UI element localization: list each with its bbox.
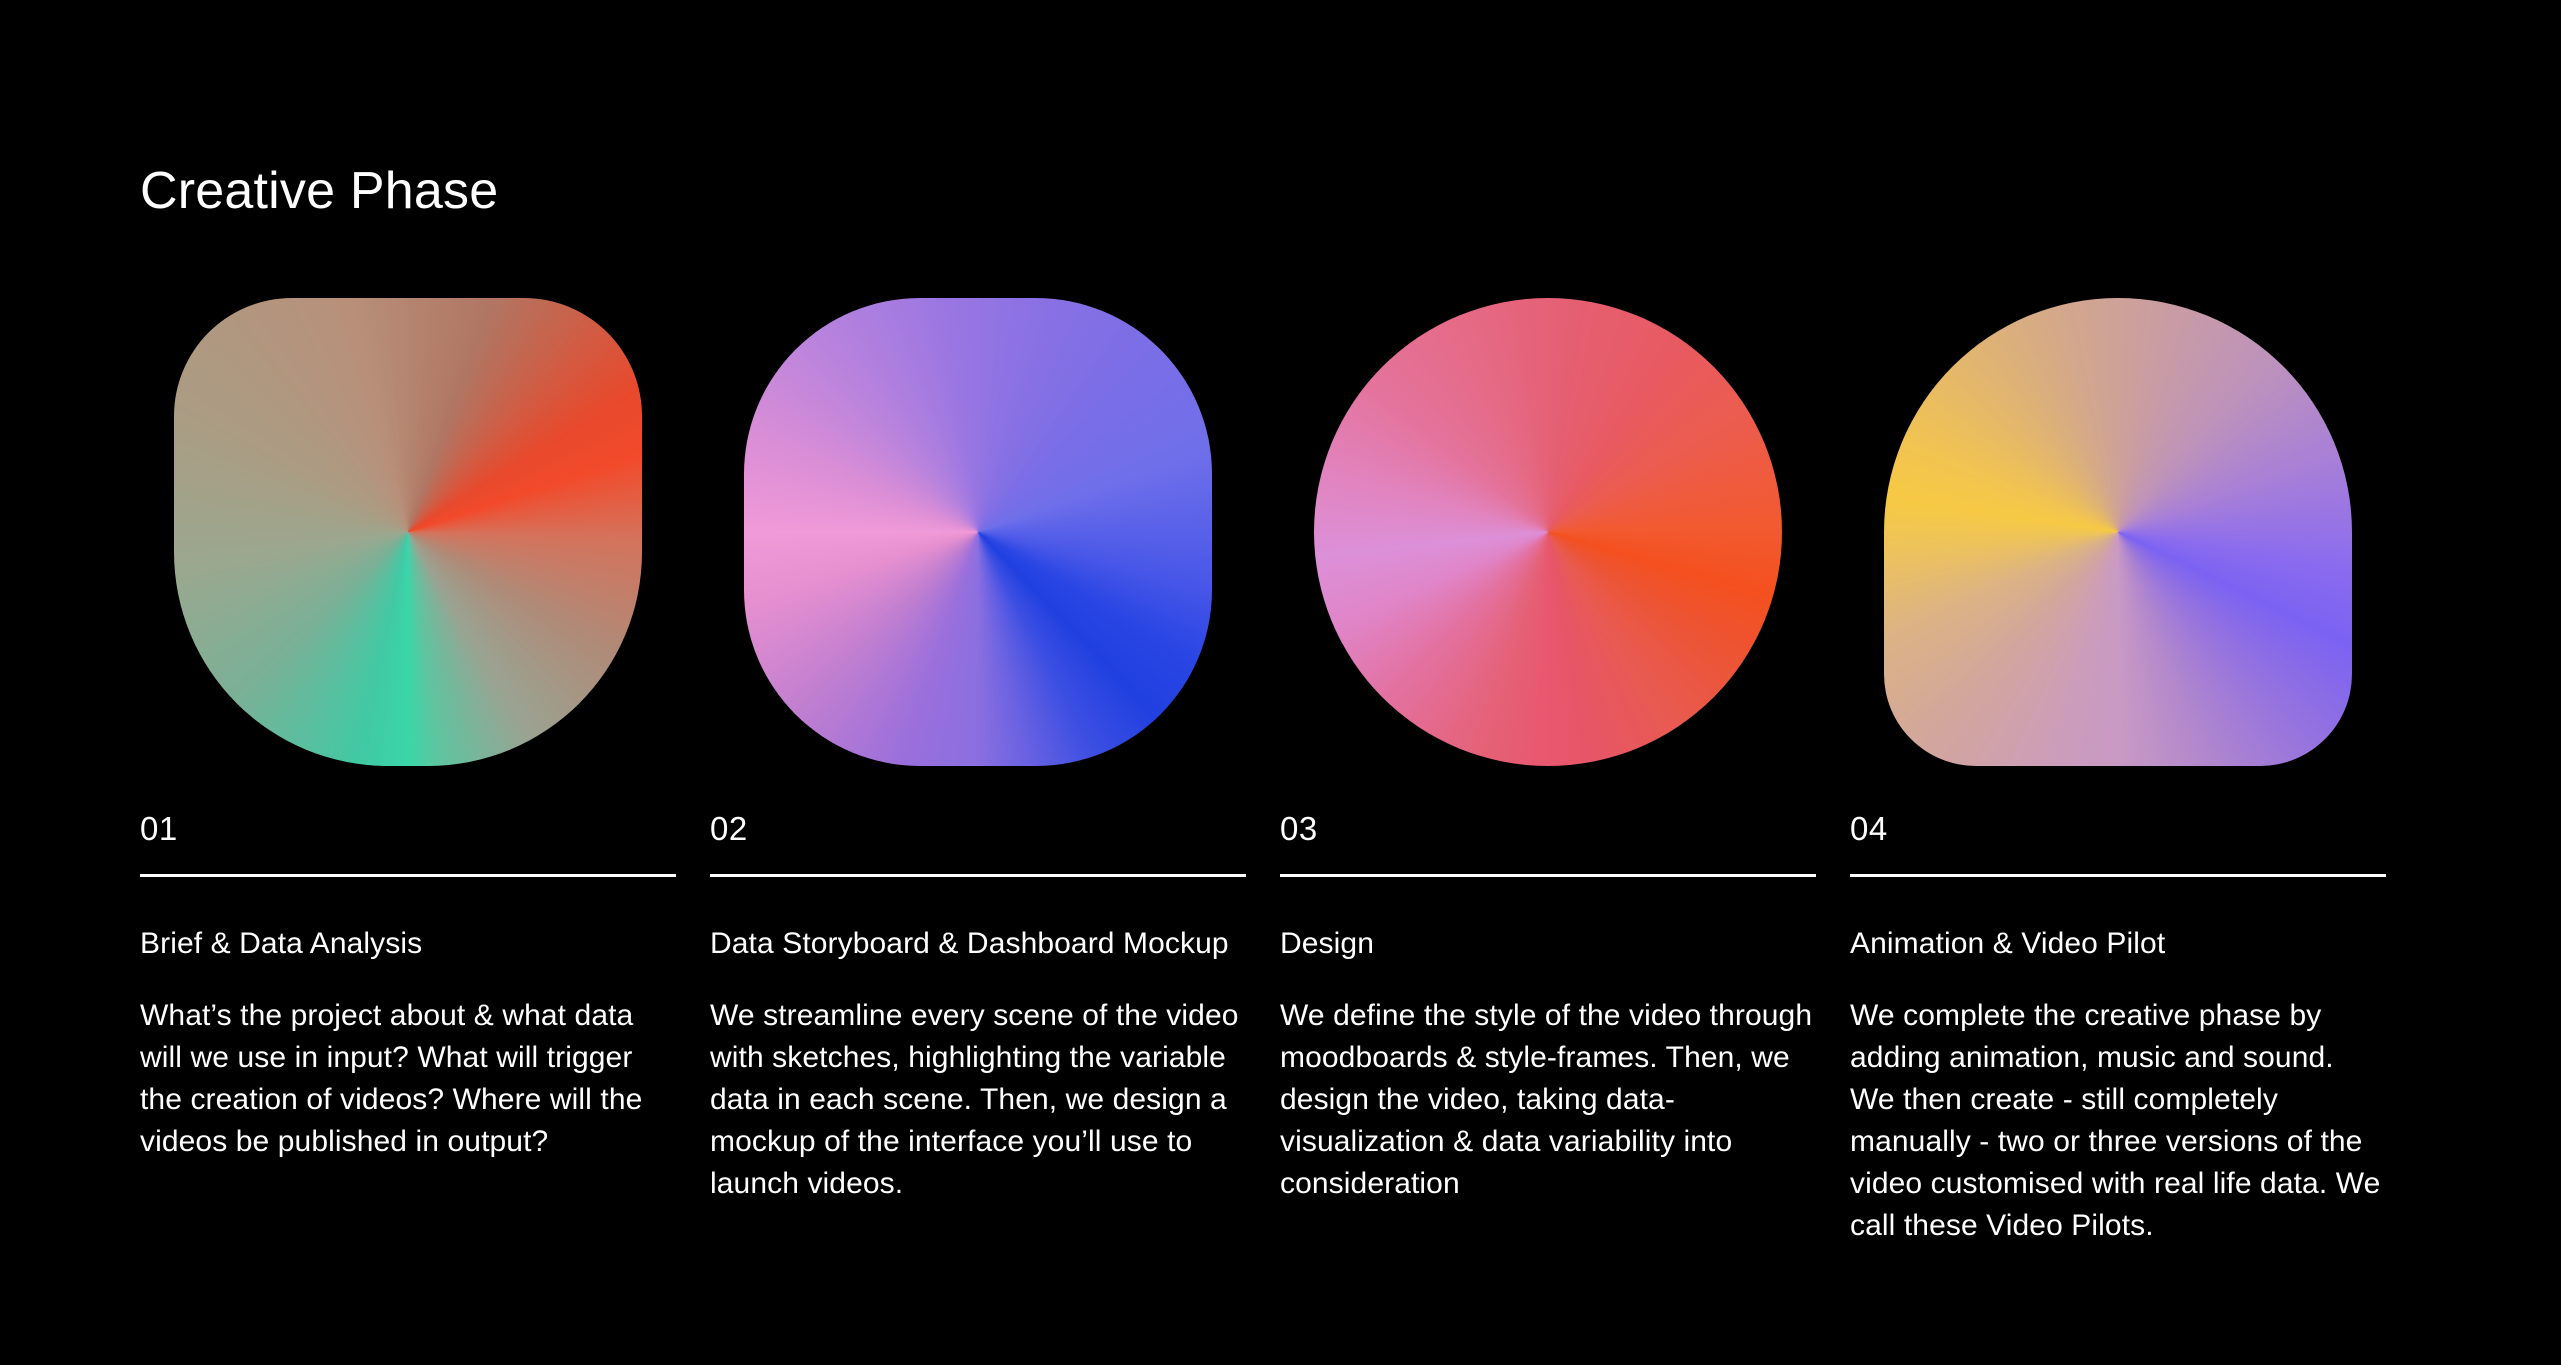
step-card-03: 03 Design We define the style of the vid…: [1280, 298, 1816, 1247]
step-divider-02: [710, 874, 1246, 877]
step-card-01: 01 Brief & Data Analysis What’s the proj…: [140, 298, 676, 1247]
page-title: Creative Phase: [140, 160, 498, 222]
gradient-blob-03-icon: [1314, 298, 1782, 766]
step-number-03: 03: [1280, 812, 1816, 845]
step-divider-04: [1850, 874, 2386, 877]
gradient-blob-02-icon: [744, 298, 1212, 766]
step-divider-03: [1280, 874, 1816, 877]
step-body-01: What’s the project about & what data wil…: [140, 995, 676, 1163]
step-card-02: 02 Data Storyboard & Dashboard Mockup We…: [710, 298, 1246, 1247]
step-number-02: 02: [710, 812, 1246, 845]
step-body-04: We complete the creative phase by adding…: [1850, 995, 2386, 1247]
step-card-04: 04 Animation & Video Pilot We complete t…: [1850, 298, 2386, 1247]
step-title-01: Brief & Data Analysis: [140, 923, 676, 965]
step-number-01: 01: [140, 812, 676, 845]
gradient-blob-04-icon: [1884, 298, 2352, 766]
step-visual-04: [1850, 298, 2386, 766]
steps-grid: 01 Brief & Data Analysis What’s the proj…: [140, 298, 2386, 1247]
step-divider-01: [140, 874, 676, 877]
gradient-blob-01-icon: [174, 298, 642, 766]
step-title-04: Animation & Video Pilot: [1850, 923, 2386, 965]
step-visual-02: [710, 298, 1246, 766]
step-title-03: Design: [1280, 923, 1816, 965]
slide-root: Creative Phase 01 Brief & Data Analysis …: [0, 0, 2561, 1365]
step-visual-01: [140, 298, 676, 766]
step-number-04: 04: [1850, 812, 2386, 845]
step-visual-03: [1280, 298, 1816, 766]
step-body-02: We streamline every scene of the video w…: [710, 995, 1246, 1205]
step-body-03: We define the style of the video through…: [1280, 995, 1816, 1205]
step-title-02: Data Storyboard & Dashboard Mockup: [710, 923, 1246, 965]
